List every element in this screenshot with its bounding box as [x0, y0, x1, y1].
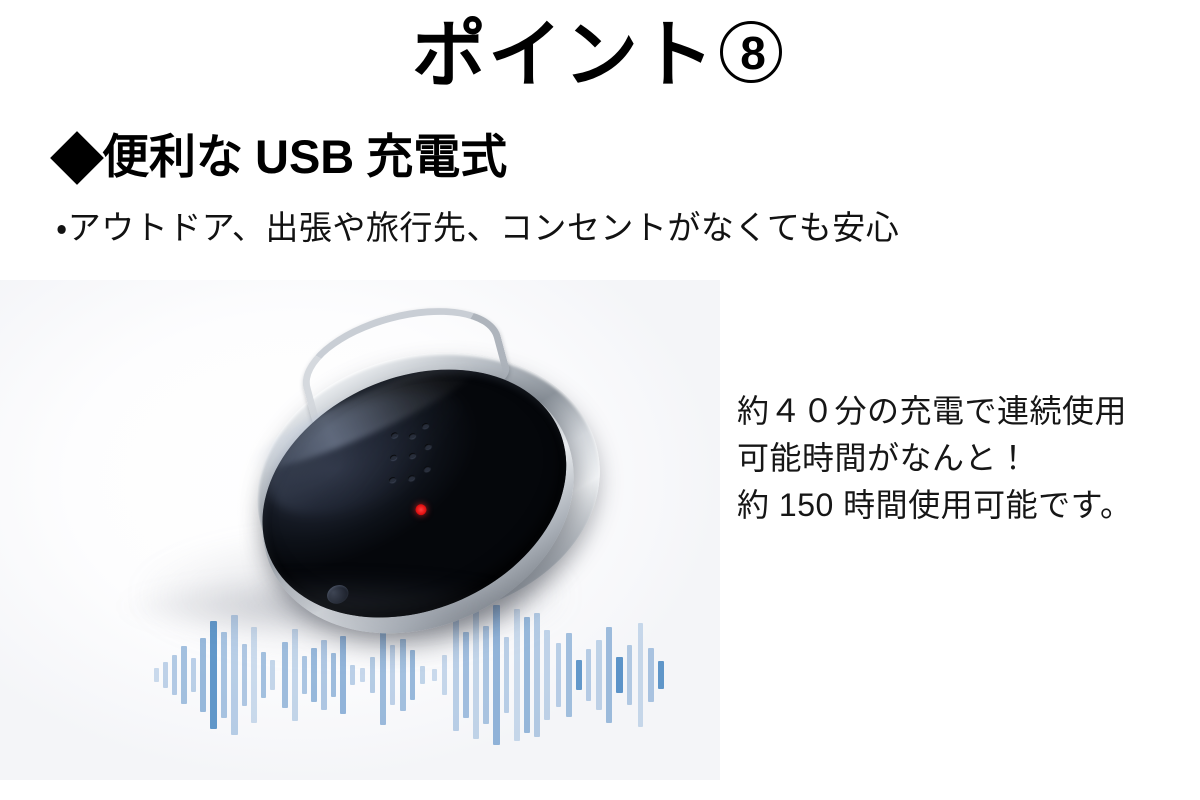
page-title: ポイント8 [0, 18, 1200, 92]
marketing-slide: ポイント8 便利なUSB充電式 ・アウトドア、出張や旅行先、コンセントがなくても… [0, 0, 1200, 800]
point-number-badge: 8 [720, 21, 788, 89]
waveform-bar [566, 633, 572, 717]
waveform-bar [221, 632, 227, 718]
description-line-1: 約４０分の充電で連続使用 [737, 388, 1132, 435]
description-block: 約４０分の充電で連続使用 可能時間がなんと！ 約 150 時間使用可能です。 [737, 388, 1132, 529]
waveform-bar [658, 661, 664, 689]
waveform-bar [432, 669, 437, 681]
description-line-2: 可能時間がなんと！ [737, 435, 1132, 482]
waveform-bar [200, 638, 206, 712]
description-line-3: 約 150 時間使用可能です。 [737, 482, 1132, 529]
waveform-bar [442, 655, 447, 695]
subheading: 便利なUSB充電式 [58, 133, 507, 180]
waveform-bar [616, 657, 623, 693]
subheading-text-before: 便利な [102, 130, 243, 183]
led-indicator [414, 502, 429, 517]
subheading-keyword: USB [255, 130, 354, 183]
waveform-bar [504, 637, 509, 713]
waveform-bar [638, 623, 643, 727]
waveform-bar [163, 662, 168, 688]
waveform-bar [191, 658, 196, 692]
product-photo [0, 280, 720, 780]
waveform-bar [627, 645, 632, 705]
waveform-bar [483, 626, 489, 724]
waveform-bar [172, 655, 177, 695]
diamond-bullet-icon [50, 131, 104, 185]
waveform-bar [596, 640, 602, 710]
page-title-text: ポイント [412, 13, 716, 96]
waveform-bar [420, 666, 425, 684]
bullet-line: ・アウトドア、出張や旅行先、コンセントがなくても安心 [56, 208, 899, 248]
waveform-bar [210, 621, 217, 729]
subheading-text-after: 充電式 [366, 130, 507, 183]
waveform-bar [648, 648, 654, 702]
waveform-bar [181, 646, 187, 704]
waveform-bar [556, 643, 561, 707]
waveform-bar [544, 630, 550, 720]
waveform-bar [410, 650, 415, 700]
product-drop-shadow [120, 576, 540, 636]
waveform-bar [370, 657, 375, 693]
waveform-bar [463, 632, 469, 718]
waveform-bar [154, 668, 159, 682]
waveform-bar [586, 649, 591, 701]
point-number-value: 8 [720, 21, 788, 89]
waveform-bar [360, 668, 365, 682]
waveform-bar [606, 627, 612, 723]
waveform-bar [576, 660, 582, 690]
